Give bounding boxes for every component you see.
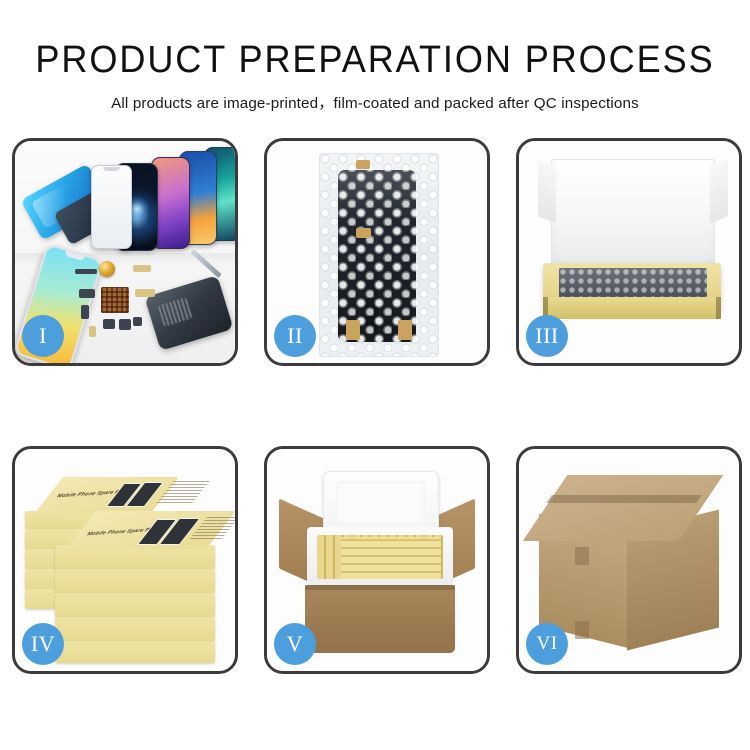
step-badge-6: VI: [526, 623, 568, 665]
bubble-wrapped-contents-icon: [559, 268, 707, 298]
step-panel-3: III: [516, 138, 742, 366]
screw-grid-icon: [101, 287, 129, 313]
bubble-texture: [320, 154, 438, 356]
process-steps-grid: I II III: [12, 138, 738, 674]
step-image-1: I: [15, 141, 235, 363]
tape-bottom-left-icon: [346, 320, 360, 340]
step-badge-2: II: [274, 315, 316, 357]
carton-tape-upper-icon: [575, 547, 589, 565]
gold-coil-icon: [99, 261, 115, 277]
step-image-2: II: [267, 141, 487, 363]
step-badge-5: V: [274, 623, 316, 665]
retail-box-f2: [55, 569, 215, 593]
step-image-5: V: [267, 449, 487, 671]
page-subtitle: All products are image-printed，film-coat…: [0, 91, 750, 113]
carton-tape-lower-icon: [575, 621, 589, 639]
step-image-6: VI: [519, 449, 739, 671]
tape-mid-icon: [356, 228, 371, 238]
step-badge-3: III: [526, 315, 568, 357]
yellow-box-front-icon: [543, 297, 721, 319]
retail-box-f3: [55, 593, 215, 617]
retail-box-f4: [55, 617, 215, 641]
step-image-3: III: [519, 141, 739, 363]
step-panel-1: I: [12, 138, 238, 366]
step-badge-1: I: [22, 315, 64, 357]
step-image-4: Mobile Phone Spare Parts Mobile Phone Sp…: [15, 449, 235, 671]
component-connector-icon: [81, 305, 89, 319]
step-badge-4: IV: [22, 623, 64, 665]
front-glass-panel-icon: [91, 165, 132, 249]
page-header: PRODUCT PREPARATION PROCESS All products…: [0, 0, 750, 113]
page-title: PRODUCT PREPARATION PROCESS: [19, 38, 732, 82]
flex-cable-b-icon: [135, 289, 155, 297]
step-panel-2: II: [264, 138, 490, 366]
flex-cable-c-icon: [89, 326, 96, 337]
step-panel-5: V: [264, 446, 490, 674]
step-panel-4: Mobile Phone Spare Parts Mobile Phone Sp…: [12, 446, 238, 674]
retail-box-f5: [55, 641, 215, 663]
flex-cable-a-icon: [133, 265, 151, 272]
bubble-wrap-bag-icon: [319, 153, 439, 357]
carton-front-icon: [305, 585, 455, 653]
component-strip-icon: [75, 269, 97, 274]
component-camera-icon: [103, 319, 115, 329]
component-speaker-icon: [119, 319, 131, 330]
component-chip-icon: [79, 289, 95, 298]
tape-bottom-right-icon: [398, 320, 412, 340]
foam-lid-icon: [323, 471, 439, 535]
step-panel-6: VI: [516, 446, 742, 674]
box-lid-foam-icon: [551, 159, 715, 271]
tape-top-icon: [356, 160, 370, 169]
yellow-boxes-row-b-icon: [341, 537, 441, 579]
component-small-icon: [133, 317, 142, 326]
carton-top-seam: [546, 495, 701, 503]
